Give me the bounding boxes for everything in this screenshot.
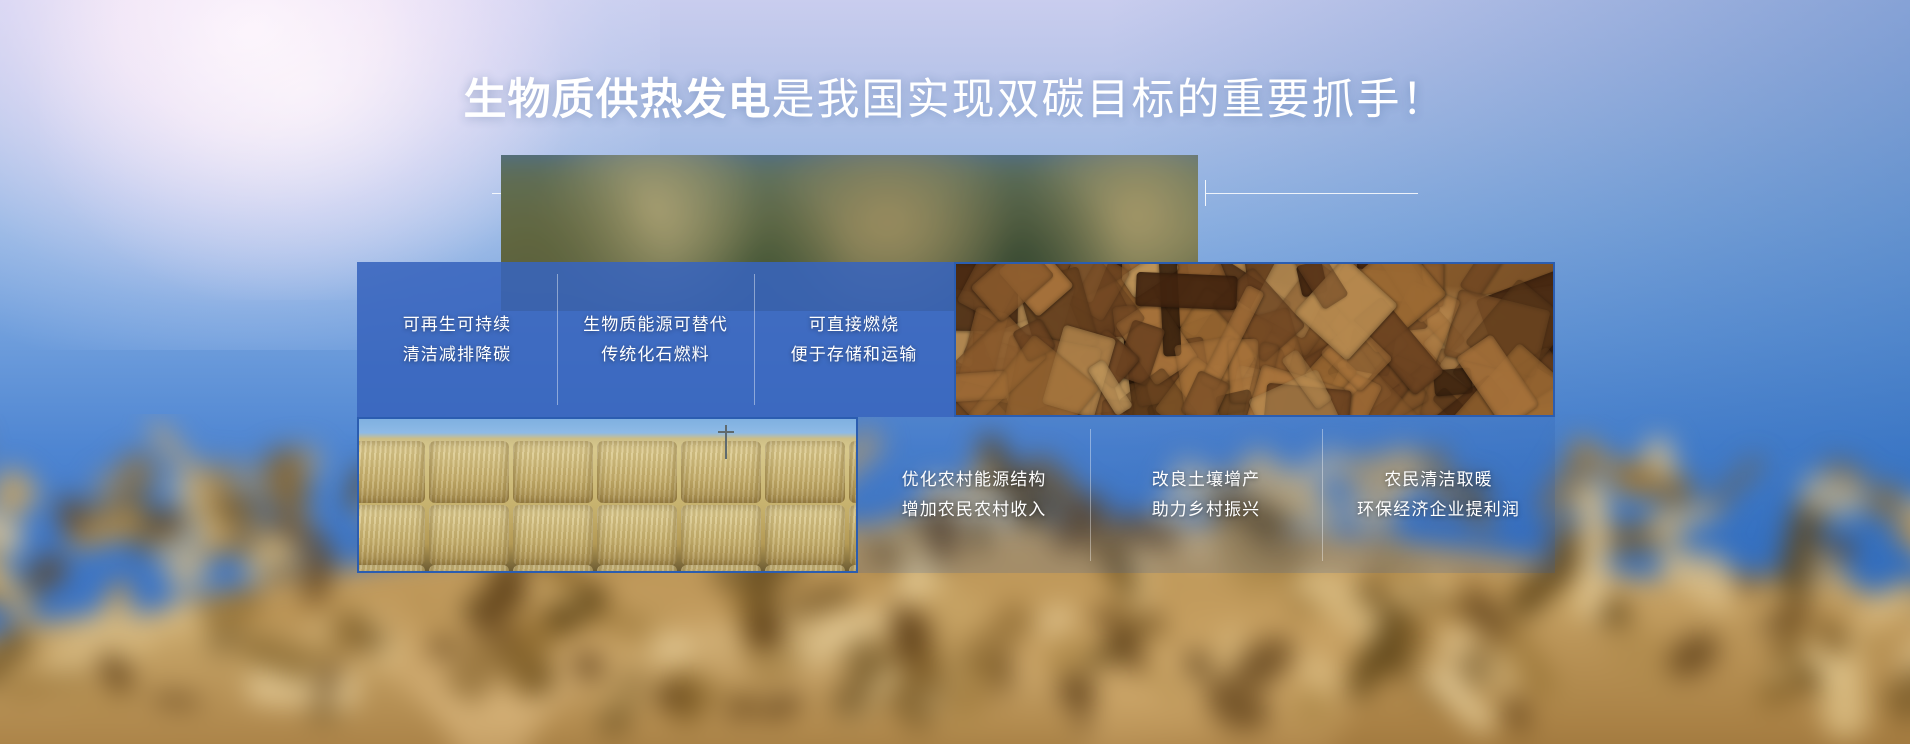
banner-content: 生物质供热发电是我国实现双碳目标的重要抓手！ 生物质能源是继煤炭、石油、天然气后… xyxy=(0,0,1910,744)
feature-cell-rural-energy[interactable]: 优化农村能源结构 增加农民农村收入 xyxy=(858,417,1090,573)
title-rest: 是我国实现双碳目标的重要抓手！ xyxy=(772,76,1447,124)
feature-line-2: 便于存储和运输 xyxy=(791,340,918,370)
wood-bark-chips-photo xyxy=(954,262,1555,417)
feature-line-1: 改良土壤增产 xyxy=(1152,465,1261,495)
feature-line-1: 优化农村能源结构 xyxy=(902,465,1047,495)
feature-row-2: 优化农村能源结构 增加农民农村收入 改良土壤增产 助力乡村振兴 农民清洁取暖 环… xyxy=(357,417,1555,573)
feature-grid: 可再生可持续 清洁减排降碳 生物质能源可替代 传统化石燃料 可直接燃烧 便于存储… xyxy=(357,262,1555,573)
feature-line-2: 增加农民农村收入 xyxy=(902,495,1047,525)
feature-line-1: 生物质能源可替代 xyxy=(583,310,728,340)
feature-cell-substitute[interactable]: 生物质能源可替代 传统化石燃料 xyxy=(557,262,754,417)
feature-row-1: 可再生可持续 清洁减排降碳 生物质能源可替代 传统化石燃料 可直接燃烧 便于存储… xyxy=(357,262,1555,417)
feature-line-1: 农民清洁取暖 xyxy=(1357,465,1520,495)
feature-cell-heating[interactable]: 农民清洁取暖 环保经济企业提利润 xyxy=(1322,417,1555,573)
feature-line-2: 助力乡村振兴 xyxy=(1152,495,1261,525)
feature-line-1: 可直接燃烧 xyxy=(791,310,918,340)
title-highlight: 生物质供热发电 xyxy=(464,76,772,124)
feature-cell-soil[interactable]: 改良土壤增产 助力乡村振兴 xyxy=(1090,417,1322,573)
feature-line-2: 环保经济企业提利润 xyxy=(1357,495,1520,525)
feature-line-2: 清洁减排降碳 xyxy=(403,340,512,370)
page-title: 生物质供热发电是我国实现双碳目标的重要抓手！ xyxy=(0,73,1910,127)
feature-cell-combustion[interactable]: 可直接燃烧 便于存储和运输 xyxy=(754,262,954,417)
subtitle-rule-right xyxy=(1206,193,1418,194)
feature-line-1: 可再生可持续 xyxy=(403,310,512,340)
straw-bales-photo xyxy=(357,417,858,573)
feature-line-2: 传统化石燃料 xyxy=(583,340,728,370)
feature-cell-renewable[interactable]: 可再生可持续 清洁减排降碳 xyxy=(357,262,557,417)
